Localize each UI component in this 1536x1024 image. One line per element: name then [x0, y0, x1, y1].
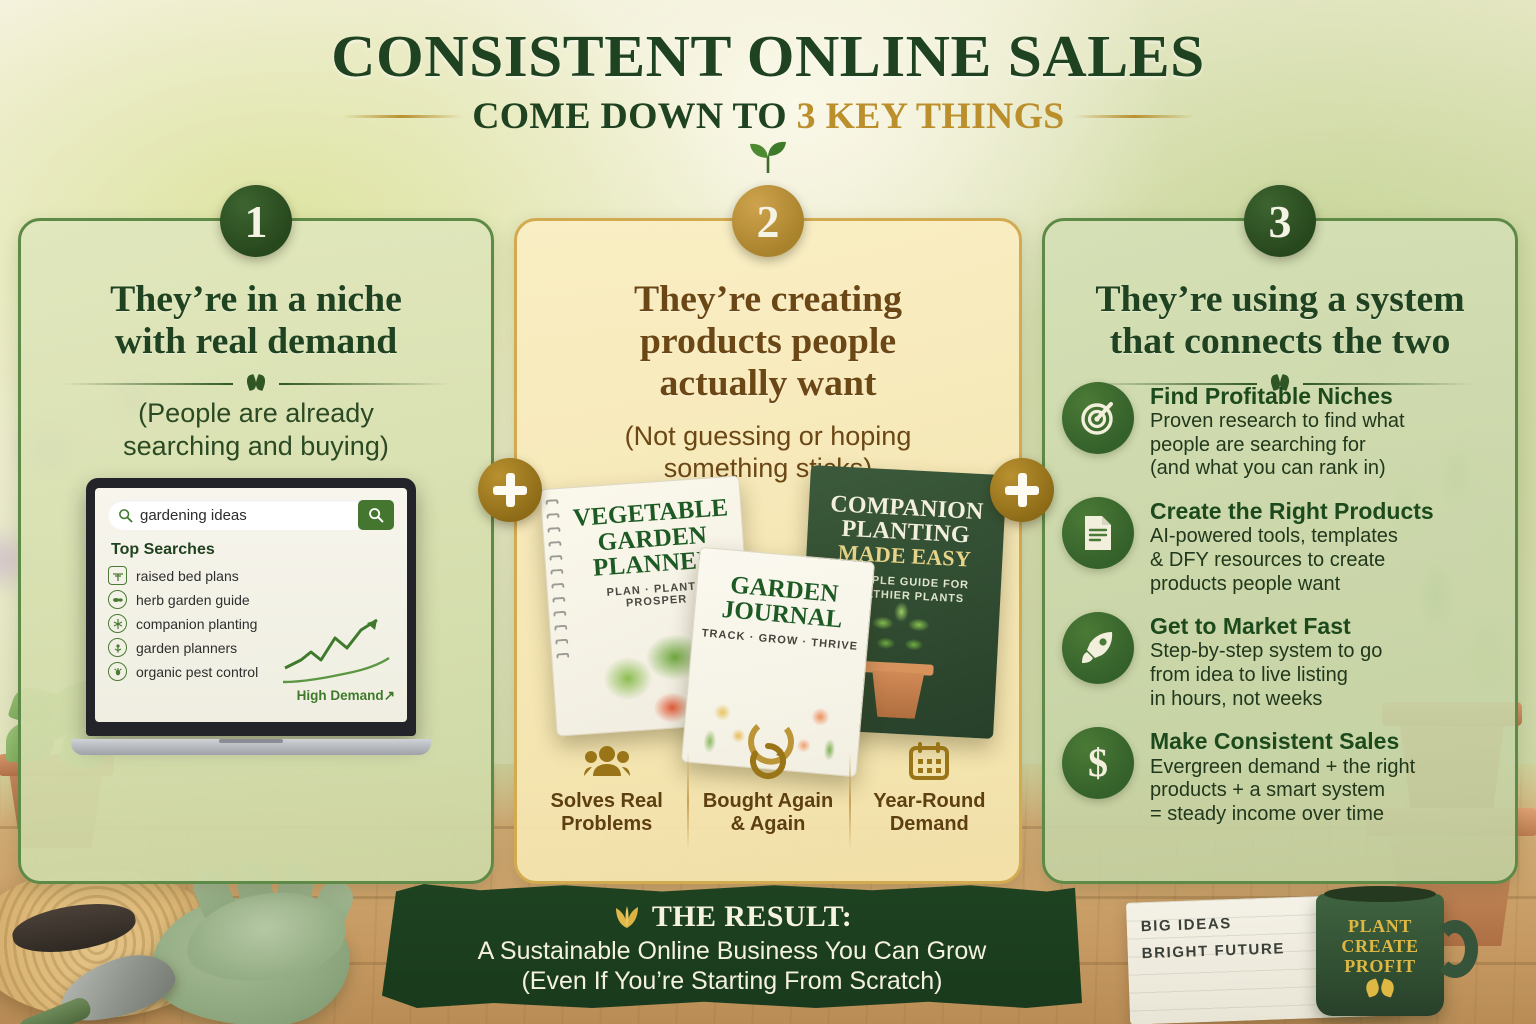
raised-bed-icon [108, 566, 127, 585]
feature-title: Find Profitable Niches [1150, 384, 1405, 409]
feature-title: Make Consistent Sales [1150, 729, 1415, 754]
leaf-icon [247, 375, 265, 390]
svg-text:$: $ [1088, 741, 1108, 785]
sprout-icon [745, 140, 791, 174]
trend-label: High Demand↗ [297, 688, 395, 704]
people-icon [526, 738, 687, 784]
feature-body: Create the Right Products AI-powered too… [1150, 497, 1434, 596]
search-icon [368, 507, 384, 523]
benefit-label: Bought Again & Again [687, 790, 848, 836]
laptop-mockup: gardening ideas Top Searches raised bed … [86, 478, 416, 755]
demand-trend-chart [281, 608, 393, 692]
companion-plant-icon [108, 614, 127, 633]
step-number-badge: 3 [1244, 185, 1316, 257]
feature-item: Find Profitable Niches Proven research t… [1062, 382, 1508, 481]
feature-item: Create the Right Products AI-powered too… [1062, 497, 1508, 596]
result-label: THE RESULT: [652, 900, 852, 934]
laptop-base [71, 739, 431, 755]
search-button[interactable] [358, 500, 394, 530]
top-searches-title: Top Searches [111, 541, 394, 559]
pest-control-icon [108, 662, 127, 681]
result-banner: THE RESULT: A Sustainable Online Busines… [382, 884, 1082, 1008]
rule-right [1074, 115, 1194, 118]
rocket-icon [1062, 612, 1134, 684]
card-subtext: (People are already searching and buying… [21, 397, 491, 462]
search-bar[interactable]: gardening ideas [108, 500, 394, 530]
trend-arrow-icon: ↗ [384, 688, 395, 703]
page-title: CONSISTENT ONLINE SALES [0, 22, 1536, 91]
card-heading: They’re using a system that connects the… [1040, 279, 1519, 363]
mug-text: PLANT CREATE PROFIT [1316, 916, 1444, 976]
document-icon [1062, 497, 1134, 569]
planner-icon [108, 638, 127, 657]
feature-title: Get to Market Fast [1150, 614, 1382, 639]
leaf-icon [612, 905, 642, 929]
search-input[interactable]: gardening ideas [108, 500, 360, 530]
suggestion-label: garden planners [136, 640, 237, 656]
subtitle-accent: 3 KEY THINGS [796, 96, 1064, 137]
subtitle-text: COME DOWN TO [472, 96, 796, 137]
product-benefits: Solves Real Problems Bought Again & Agai… [526, 738, 1010, 860]
calendar-icon [849, 738, 1010, 784]
feature-item: Get to Market Fast Step-by-step system t… [1062, 612, 1508, 711]
laptop-screen: gardening ideas Top Searches raised bed … [86, 478, 416, 736]
step-number-badge: 2 [732, 185, 804, 257]
feature-body: Make Consistent Sales Evergreen demand +… [1150, 727, 1415, 826]
feature-description: Proven research to find what people are … [1150, 410, 1405, 481]
leaf-icon [1366, 980, 1394, 996]
search-suggestion-row[interactable]: herb garden guide [108, 590, 394, 609]
benefit-label: Solves Real Problems [526, 790, 687, 836]
rule-left [342, 115, 462, 118]
search-app: gardening ideas Top Searches raised bed … [95, 488, 407, 722]
search-input-value: gardening ideas [140, 507, 247, 524]
plus-connector-1 [478, 458, 542, 522]
mug-handle [1432, 920, 1478, 978]
system-features: Find Profitable Niches Proven research t… [1062, 382, 1508, 842]
spiral-binding [545, 499, 575, 727]
suggestion-label: companion planting [136, 616, 257, 632]
card-heading: They’re creating products people actuall… [512, 279, 1024, 406]
feature-title: Create the Right Products [1150, 499, 1434, 524]
leaf-divider [63, 375, 448, 391]
book-title: GARDEN JOURNAL [702, 570, 864, 634]
potted-plant-illustration [861, 600, 940, 666]
header: CONSISTENT ONLINE SALES COME DOWN TO 3 K… [0, 0, 1536, 138]
step-number-badge: 1 [220, 185, 292, 257]
feature-body: Find Profitable Niches Proven research t… [1150, 382, 1405, 481]
repeat-cycle-icon [687, 738, 848, 784]
result-heading: THE RESULT: [382, 900, 1082, 934]
result-line-1: A Sustainable Online Business You Can Gr… [382, 937, 1082, 966]
benefit-item: Bought Again & Again [687, 738, 848, 860]
dollar-icon: $ [1062, 727, 1134, 799]
benefit-label: Year-Round Demand [849, 790, 1010, 836]
benefit-item: Year-Round Demand [849, 738, 1010, 860]
page-subtitle: COME DOWN TO 3 KEY THINGS [472, 95, 1064, 138]
feature-description: AI-powered tools, templates & DFY resour… [1150, 525, 1434, 596]
suggestion-label: organic pest control [136, 664, 258, 680]
benefit-item: Solves Real Problems [526, 738, 687, 860]
target-icon [1062, 382, 1134, 454]
product-books: VEGETABLE GARDEN PLANNER PLAN · PLANT · … [540, 470, 1000, 770]
result-line-2: (Even If You’re Starting From Scratch) [382, 967, 1082, 996]
card-heading: They’re in a niche with real demand [16, 279, 495, 363]
feature-item: $ Make Consistent Sales Evergreen demand… [1062, 727, 1508, 826]
search-suggestion-row[interactable]: raised bed plans [108, 566, 394, 585]
search-icon [118, 508, 133, 523]
feature-description: Step-by-step system to go from idea to l… [1150, 640, 1382, 711]
subtitle-row: COME DOWN TO 3 KEY THINGS [0, 95, 1536, 138]
feature-description: Evergreen demand + the right products + … [1150, 756, 1415, 827]
herb-icon [108, 590, 127, 609]
suggestion-label: raised bed plans [136, 568, 239, 584]
coffee-mug: PLANT CREATE PROFIT [1316, 894, 1444, 1016]
plus-connector-2 [990, 458, 1054, 522]
suggestion-label: herb garden guide [136, 592, 250, 608]
feature-body: Get to Market Fast Step-by-step system t… [1150, 612, 1382, 711]
